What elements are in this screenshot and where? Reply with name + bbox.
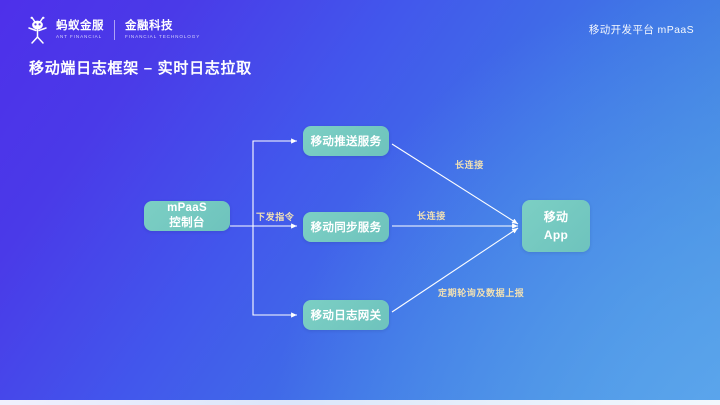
edge-label-long-connection-sync: 长连接 <box>417 209 446 222</box>
node-mpaas-console[interactable]: mPaaS 控制台 <box>144 201 230 231</box>
node-mobile-push-service[interactable]: 移动推送服务 <box>303 126 389 156</box>
edge-push-app <box>392 144 518 224</box>
edge-label-poll-and-report: 定期轮询及数据上报 <box>438 286 524 299</box>
node-mobile-log-gateway[interactable]: 移动日志网关 <box>303 300 389 330</box>
edge-loggw-app <box>392 228 518 312</box>
node-label-line: 移动同步服务 <box>311 219 382 235</box>
edge-label-dispatch: 下发指令 <box>256 210 294 223</box>
node-label-line: App <box>544 226 568 244</box>
node-label-line: mPaaS <box>167 202 207 214</box>
node-mobile-sync-service[interactable]: 移动同步服务 <box>303 212 389 242</box>
node-label-line: 移动推送服务 <box>311 133 382 149</box>
diagram-connectors <box>0 0 720 405</box>
edge-label-long-connection-push: 长连接 <box>455 158 484 171</box>
bottom-accent-strip <box>0 400 720 405</box>
node-label-line: 移动 <box>544 208 569 226</box>
slide-canvas: 蚂蚁金服 ANT FINANCIAL 金融科技 FINANCIAL TECHNO… <box>0 0 720 405</box>
architecture-diagram: mPaaS 控制台 移动推送服务 移动同步服务 移动日志网关 移动 App 下发… <box>0 0 720 405</box>
edge-console-loggw <box>253 226 297 315</box>
node-mobile-app[interactable]: 移动 App <box>522 200 590 252</box>
node-label-line: 移动日志网关 <box>311 307 382 323</box>
node-label-line: 控制台 <box>169 214 204 230</box>
